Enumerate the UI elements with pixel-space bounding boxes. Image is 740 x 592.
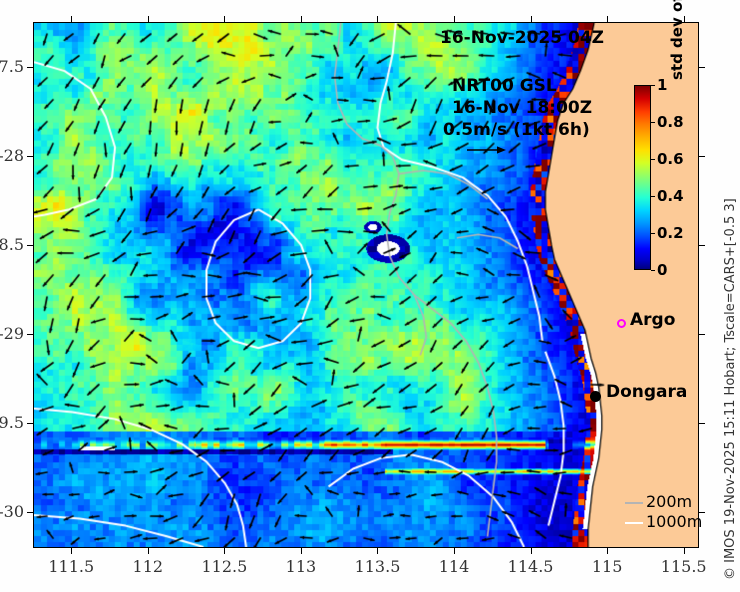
x-axis-tick <box>301 16 302 22</box>
dongara-place-label: Dongara <box>606 382 687 402</box>
map-plot-area <box>33 22 699 548</box>
bathy-200m-swatch <box>625 502 643 504</box>
y-axis-tick <box>699 245 705 246</box>
x-axis-tick <box>71 16 72 22</box>
x-axis-tick <box>224 548 225 554</box>
x-axis-label: 111.5 <box>31 557 111 576</box>
vector-scale-arrow-icon <box>466 144 506 156</box>
y-axis-label: -29.5 <box>0 413 24 432</box>
x-axis-tick <box>607 548 608 554</box>
sst-stddev-raster <box>34 23 698 547</box>
bathy-200m-label: 200m <box>646 492 692 511</box>
colorbar-tick-label: 0.6 <box>657 150 684 168</box>
argo-legend-label: Argo <box>630 310 675 330</box>
x-axis-label: 113.5 <box>337 557 417 576</box>
colorbar <box>634 85 651 270</box>
colorbar-title: std dev of 4hr SST comp <box>668 0 686 80</box>
y-axis-tick <box>27 245 33 246</box>
x-axis-label: 112.5 <box>184 557 264 576</box>
x-axis-label: 115.5 <box>644 557 724 576</box>
argo-marker-icon <box>617 319 626 328</box>
colorbar-tick-label: 0.2 <box>657 224 684 242</box>
colorbar-tick <box>651 233 655 234</box>
y-axis-tick <box>699 67 705 68</box>
x-axis-label: 113 <box>261 557 341 576</box>
colorbar-tick-label: 0 <box>657 261 667 279</box>
x-axis-tick <box>148 16 149 22</box>
vector-scale-label: 0.5m/s (1kt 6h) <box>443 120 590 140</box>
x-axis-tick <box>531 548 532 554</box>
colorbar-gradient <box>634 85 651 270</box>
y-axis-tick <box>699 423 705 424</box>
x-axis-tick <box>224 16 225 22</box>
colorbar-tick <box>651 159 655 160</box>
x-axis-label: 114.5 <box>491 557 571 576</box>
x-axis-tick <box>148 548 149 554</box>
y-axis-tick <box>27 334 33 335</box>
x-axis-tick <box>301 548 302 554</box>
x-axis-tick <box>684 548 685 554</box>
x-axis-tick <box>377 548 378 554</box>
colorbar-tick-label: 0.8 <box>657 113 684 131</box>
forecast-model-label: NRT00 GSL <box>452 76 557 96</box>
y-axis-tick <box>27 156 33 157</box>
colorbar-tick <box>651 196 655 197</box>
y-axis-tick <box>699 512 705 513</box>
forecast-time-label: 16-Nov 18:00Z <box>452 98 592 118</box>
y-axis-label: -29 <box>0 324 24 343</box>
y-axis-label: -28.5 <box>0 235 24 254</box>
datestamp-label: 16-Nov-2025 04Z <box>440 28 604 48</box>
x-axis-label: 115 <box>567 557 647 576</box>
y-axis-tick <box>27 512 33 513</box>
x-axis-tick <box>454 548 455 554</box>
y-axis-label: -27.5 <box>0 57 24 76</box>
y-axis-label: -30 <box>0 502 24 521</box>
colorbar-tick <box>651 85 655 86</box>
x-axis-tick <box>607 16 608 22</box>
dongara-marker-icon <box>590 391 601 402</box>
bathy-1000m-label: 1000m <box>646 512 702 531</box>
x-axis-tick <box>531 16 532 22</box>
x-axis-label: 112 <box>108 557 188 576</box>
bathy-1000m-swatch <box>625 522 643 524</box>
colorbar-tick <box>651 122 655 123</box>
colorbar-tick <box>651 270 655 271</box>
attribution-text: © IMOS 19-Nov-2025 15:11 Hobart; Tscale=… <box>723 20 738 580</box>
x-axis-tick <box>684 16 685 22</box>
y-axis-tick <box>699 156 705 157</box>
y-axis-tick <box>27 67 33 68</box>
y-axis-label: -28 <box>0 146 24 165</box>
colorbar-tick-label: 1 <box>657 76 667 94</box>
x-axis-tick <box>454 16 455 22</box>
x-axis-label: 114 <box>414 557 494 576</box>
x-axis-tick <box>377 16 378 22</box>
y-axis-tick <box>27 423 33 424</box>
colorbar-tick-label: 0.4 <box>657 187 684 205</box>
x-axis-tick <box>71 548 72 554</box>
y-axis-tick <box>699 334 705 335</box>
